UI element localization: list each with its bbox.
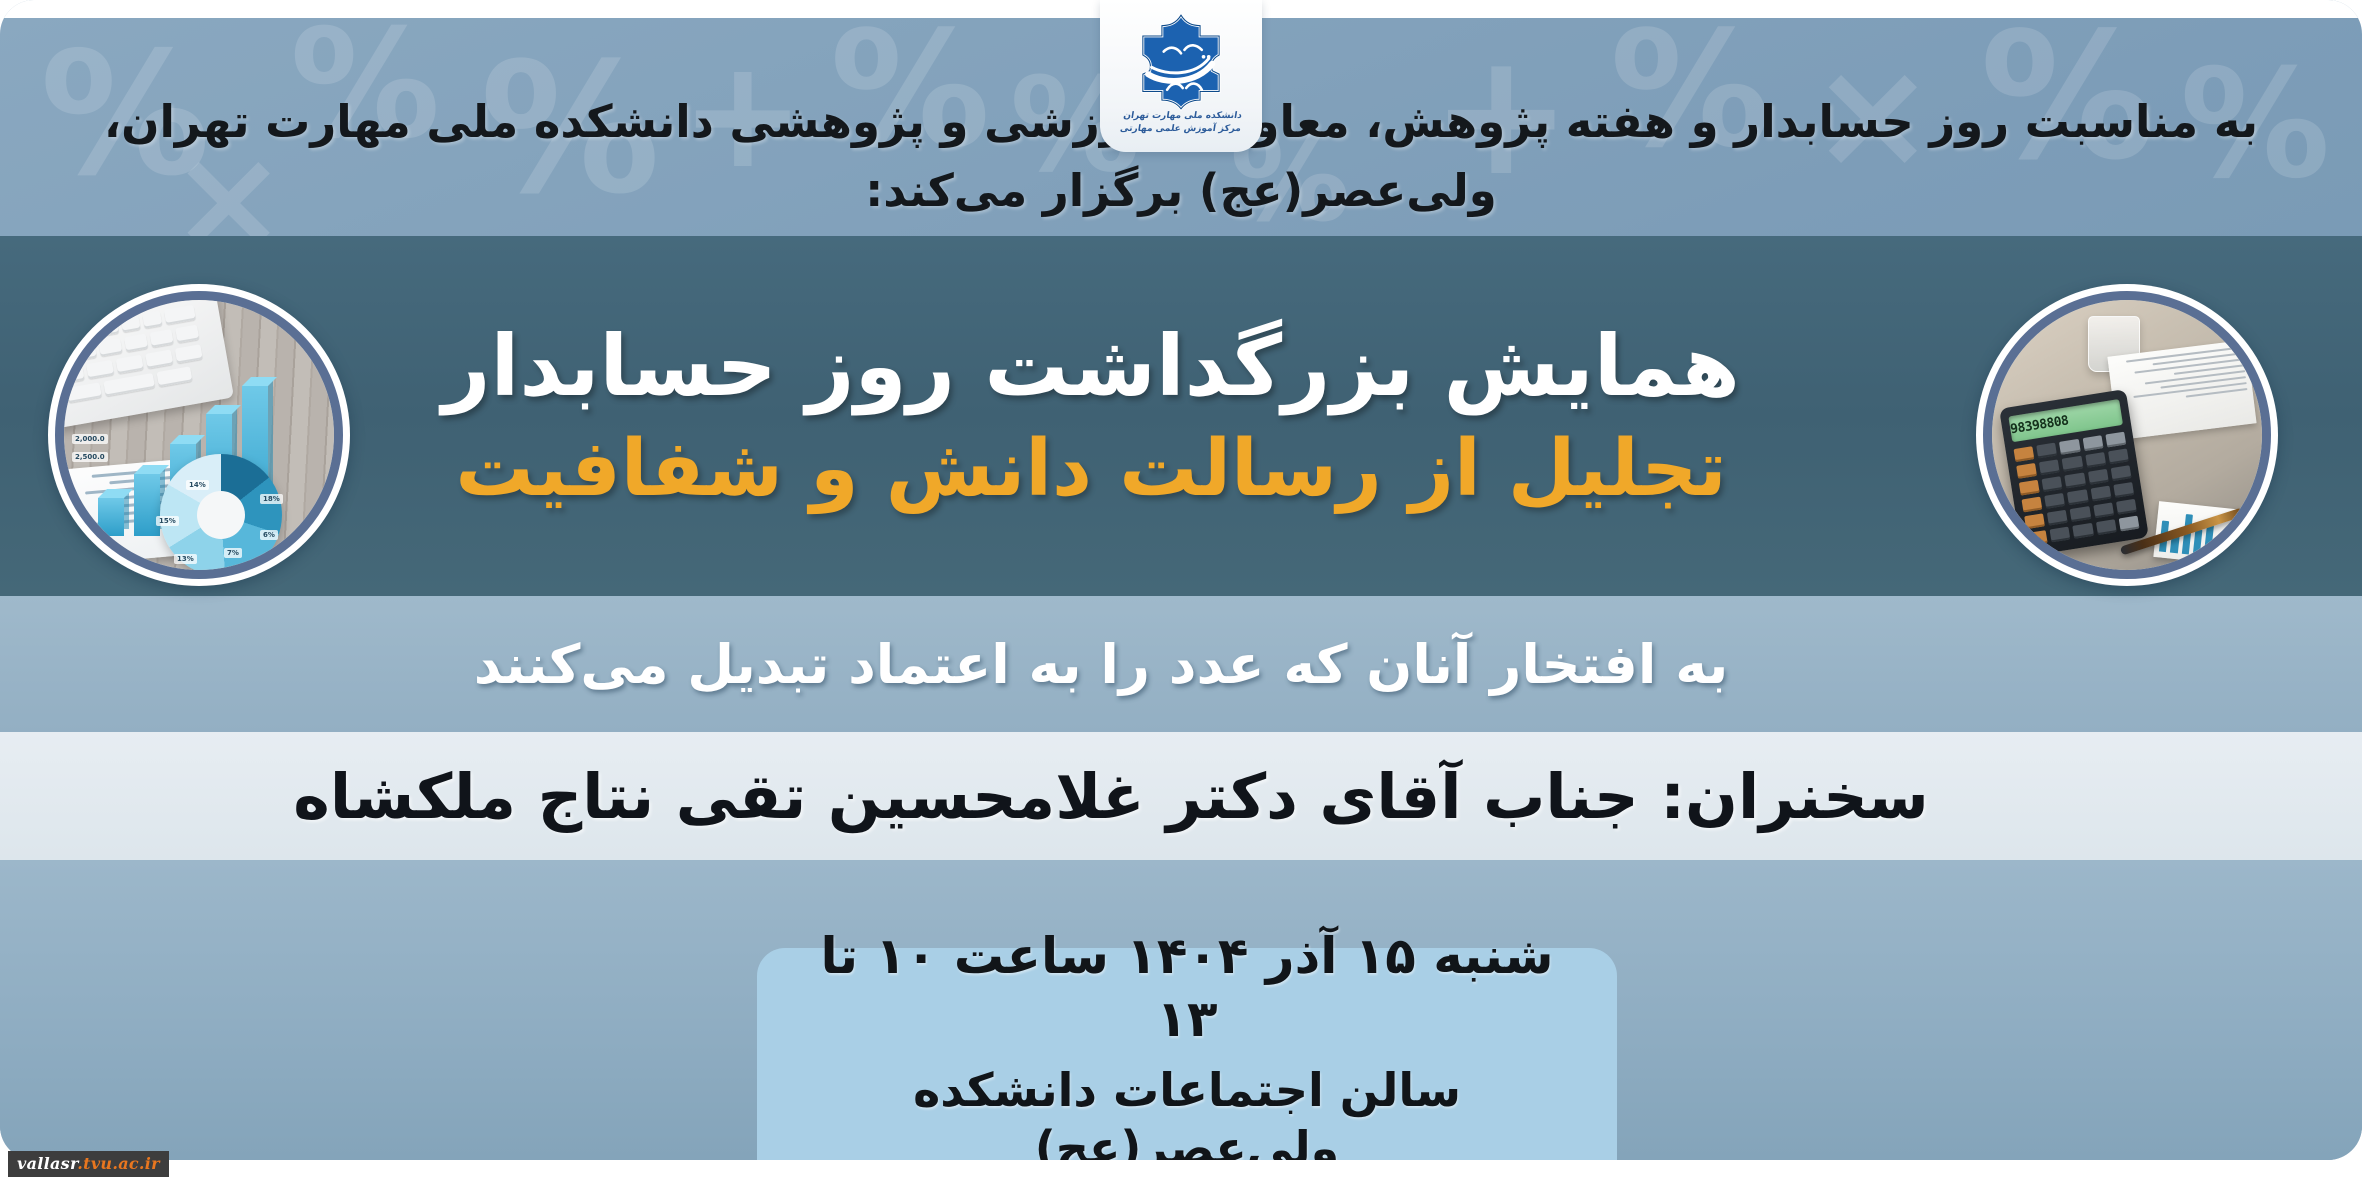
chart-percent-label: 15% [156,516,179,526]
chart-value-label: 2,500.0 [72,452,108,462]
photo-ring: 98398808 [1983,291,2271,579]
logo-caption-line1: دانشکده ملی مهارت تهران [1121,110,1244,123]
photo-inner-right: 98398808 [1992,300,2262,570]
watermark-suffix: .tvu.ac.ir [77,1154,160,1173]
chart-percent-label: 13% [174,554,197,564]
university-logo-card: دانشکده ملی مهارت تهران مرکز آموزش علمی … [1100,0,1262,152]
calculator-graphic: 98398808 [1999,389,2149,557]
calculator-keypad [2014,432,2140,546]
tagline-text: به افتخار آنان که عدد را به اعتماد تبدیل… [474,633,1889,696]
speaker-name: سخنران: جناب آقای دکتر غلامحسین تقی نتاج… [293,760,2068,833]
speaker-band: سخنران: جناب آقای دکتر غلامحسین تقی نتاج… [0,732,2362,860]
event-date-time: شنبه ۱۵ آذر ۱۴۰۴ ساعت ۱۰ تا ۱۳ [785,925,1589,1050]
site-watermark: vallasr.tvu.ac.ir [8,1151,169,1177]
watermark-prefix: vallasr [17,1154,77,1173]
chart-percent-label: 6% [260,530,278,540]
chart-value-label: 2,000.0 [72,434,108,444]
event-title: همایش بزرگداشت روز حسابدار [442,317,1920,416]
tagline-band: به افتخار آنان که عدد را به اعتماد تبدیل… [0,596,2362,732]
calculator-documents-photo: 98398808 [1976,284,2278,586]
poster-frame: % % % + % % + % × % % × % % % + % % + % … [0,0,2362,1160]
bar-chart-column [134,474,160,536]
bottom-white-strip [0,1160,2362,1181]
event-venue: سالن اجتماعات دانشکده ولی‌عصر(عج) [785,1062,1589,1160]
chart-percent-label: 14% [186,480,209,490]
event-subtitle: تجلیل از رسالت دانش و شفافیت [455,423,1906,515]
national-skills-university-emblem [1129,10,1233,114]
poster-root: % % % + % % + % × % % × % % % + % % + % … [0,0,2362,1181]
logo-caption: دانشکده ملی مهارت تهران مرکز آموزش علمی … [1119,110,1244,136]
chart-percent-label: 7% [224,548,242,558]
chart-percent-label: 18% [260,494,283,504]
accounting-bar-chart-photo: 2,000.0 2,500.0 14% 18% 15% 6% 7% 13% [48,284,350,586]
photo-inner-left: 2,000.0 2,500.0 14% 18% 15% 6% 7% 13% [64,300,334,570]
logo-caption-line2: مرکز آموزش علمی مهارتی [1119,123,1242,136]
photo-ring: 2,000.0 2,500.0 14% 18% 15% 6% 7% 13% [55,291,343,579]
donut-chart-graphic [160,454,282,570]
bar-chart-column [98,498,124,536]
event-details-box: شنبه ۱۵ آذر ۱۴۰۴ ساعت ۱۰ تا ۱۳ سالن اجتم… [757,948,1617,1160]
